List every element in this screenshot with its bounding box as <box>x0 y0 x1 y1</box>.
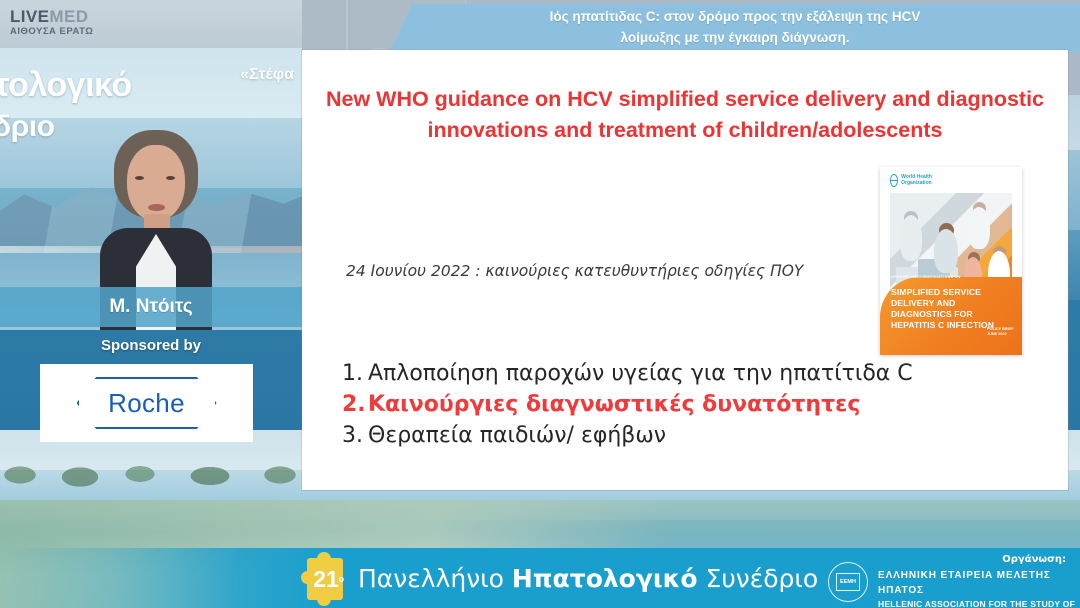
livemed-logo: LIVEMED <box>10 7 88 27</box>
society-logo: ΕΕΜΗ <box>828 562 868 602</box>
list-item-number: 3. <box>342 420 368 451</box>
list-item-number: 1. <box>342 358 368 389</box>
list-item-label: Απλοποίηση παροχών υγείας για την ηπατίτ… <box>368 358 913 389</box>
session-title-text: Ιός ηπατίτιδας C: στον δρόμο προς την εξ… <box>415 7 1055 49</box>
livemed-logo-live: LIVE <box>10 7 49 26</box>
video-panel-header: LIVEMED ΑΙΘΟΥΣΑ ΕΡΑΤΩ <box>0 0 302 48</box>
speaker-name-band: Μ. Ντόιτς <box>0 287 302 327</box>
who-cover-badge: POLICY BRIEF JUNE 2022 <box>987 327 1015 337</box>
livemed-logo-med: MED <box>49 7 88 26</box>
session-title-line2: λοίμωξης με την έγκαιρη διάγνωση. <box>415 28 1055 49</box>
list-item-number: 2. <box>342 389 368 420</box>
room-label: ΑΙΘΟΥΣΑ ΕΡΑΤΩ <box>10 26 93 37</box>
roche-wordmark: Roche <box>77 377 217 429</box>
list-item: 1. Απλοποίηση παροχών υγείας για την ηπα… <box>342 358 982 389</box>
who-cover-title: SIMPLIFIED SERVICE DELIVERY AND DIAGNOST… <box>891 287 999 331</box>
list-item-label: Καινούργιες διαγνωστικές δυνατότητες <box>368 389 860 420</box>
event-title: Πανελλήνιο Ηπατολογικό Συνέδριο <box>358 564 818 593</box>
edition-ordinal: ο <box>339 574 345 584</box>
backdrop-text-line1: ατολογικό <box>0 66 132 105</box>
sponsored-by-label: Sponsored by <box>0 337 302 354</box>
list-item-label: Θεραπεία παιδιών/ εφήβων <box>368 420 666 451</box>
speaker-name: Μ. Ντόιτς <box>109 296 192 318</box>
event-footer: 21 ο Πανελλήνιο Ηπατολογικό Συνέδριο Οργ… <box>0 548 1080 608</box>
speaker-mouth <box>148 204 165 211</box>
list-item: 2. Καινούργιες διαγνωστικές δυνατότητες <box>342 389 982 420</box>
organizer-label: Οργάνωση: <box>1002 554 1066 565</box>
speaker-eye-right <box>166 176 175 180</box>
backdrop-text-line2: έδριο <box>0 110 54 144</box>
slide-date-line: 24 Ιουνίου 2022 : καινούριες κατευθυντήρ… <box>346 262 803 280</box>
slide-title: New WHO guidance on HCV simplified servi… <box>324 84 1046 145</box>
who-report-cover: World Health Organization UPDATED RECOMM… <box>880 167 1022 355</box>
roche-logo: Roche <box>77 377 217 429</box>
puzzle-piece-icon: 21 ο <box>303 558 347 600</box>
society-logo-mark: ΕΕΜΗ <box>836 573 860 591</box>
who-cover-kicker: UPDATED RECOMMENDATIONS ON <box>891 275 995 279</box>
event-title-post: Συνέδριο <box>698 564 819 593</box>
who-logo: World Health Organization <box>890 173 936 188</box>
presentation-stage: Ιός ηπατίτιδας C: στον δρόμο προς την εξ… <box>0 0 1080 608</box>
session-title-line1: Ιός ηπατίτιδας C: στον δρόμο προς την εξ… <box>415 7 1055 28</box>
who-globe-icon <box>890 174 898 187</box>
session-title-banner: Ιός ηπατίτιδας C: στον δρόμο προς την εξ… <box>390 4 1080 52</box>
society-name-block: ΕΛΛΗΝΙΚΗ ΕΤΑΙΡΕΙΑ ΜΕΛΕΤΗΣ ΗΠΑΤΟΣ HELLENI… <box>878 568 1080 608</box>
slide-title-line2: innovations and treatment of children/ad… <box>324 115 1046 146</box>
speaker-eye-left <box>135 176 144 180</box>
society-name-greek: ΕΛΛΗΝΙΚΗ ΕΤΑΙΡΕΙΑ ΜΕΛΕΤΗΣ ΗΠΑΤΟΣ <box>878 568 1080 598</box>
sponsor-card[interactable]: Roche <box>40 364 253 442</box>
backdrop-text-corner: «Στέφα <box>240 66 294 84</box>
presentation-slide: New WHO guidance on HCV simplified servi… <box>302 50 1068 490</box>
society-name-english: HELLENIC ASSOCIATION FOR THE STUDY OF LI… <box>878 598 1080 608</box>
who-logo-text: World Health Organization <box>901 175 936 186</box>
slide-title-line1: New WHO guidance on HCV simplified servi… <box>324 84 1046 115</box>
video-panel[interactable]: LIVEMED ΑΙΘΟΥΣΑ ΕΡΑΤΩ ατολογικό έδριο «Σ… <box>0 0 302 330</box>
event-title-bold: Ηπατολογικό <box>512 564 698 593</box>
list-item: 3. Θεραπεία παιδιών/ εφήβων <box>342 420 982 451</box>
slide-agenda-list: 1. Απλοποίηση παροχών υγείας για την ηπα… <box>342 358 982 452</box>
event-title-pre: Πανελλήνιο <box>358 564 512 593</box>
